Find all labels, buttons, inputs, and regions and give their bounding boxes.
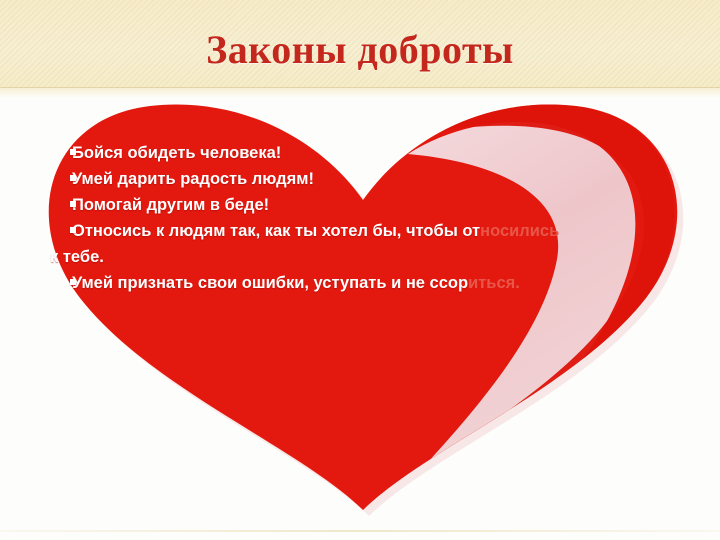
list-item: Помогай другим в беде! — [0, 192, 720, 218]
bullet-icon — [70, 279, 76, 285]
law-text: Относись к людям так, как ты хотел бы, ч… — [72, 222, 480, 240]
list-item: Относись к людям так, как ты хотел бы, ч… — [0, 218, 720, 244]
list-item: Умей признать свои ошибки, уступать и не… — [0, 270, 720, 296]
bullet-icon — [70, 227, 76, 233]
law-text: Умей признать свои ошибки, уступать и не… — [72, 274, 468, 292]
law-text: Умей дарить радость людям! — [72, 170, 314, 188]
list-item: Бойся обидеть человека! — [0, 140, 720, 166]
bottom-divider — [0, 530, 720, 532]
bullet-icon — [70, 175, 76, 181]
list-item: Умей дарить радость людям! — [0, 166, 720, 192]
bullet-icon — [70, 201, 76, 207]
law-text-tail: иться. — [468, 274, 520, 292]
bullet-icon — [70, 149, 76, 155]
law-text: к тебе. — [50, 248, 104, 266]
law-text: Помогай другим в беде! — [72, 196, 269, 214]
law-text: Бойся обидеть человека! — [72, 144, 281, 162]
law-text-tail: носились — [480, 222, 559, 240]
laws-list: Бойся обидеть человека! Умей дарить радо… — [0, 140, 720, 296]
page-title: Законы доброты — [0, 26, 720, 73]
slide-canvas: Законы доброты — [0, 0, 720, 540]
list-item-continuation: к тебе. — [0, 244, 720, 270]
